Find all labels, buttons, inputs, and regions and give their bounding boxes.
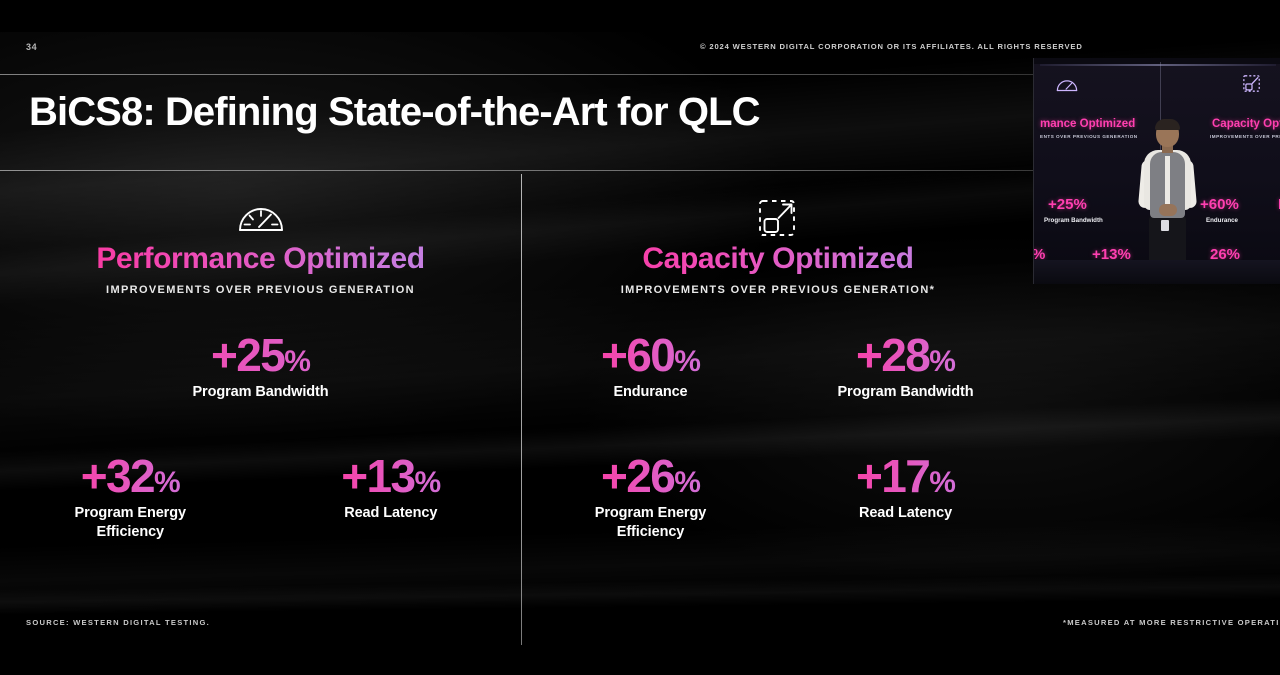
stat-label: Endurance <box>523 383 778 402</box>
stat-value: +28% <box>778 332 1033 379</box>
presenter-figure <box>1132 120 1202 280</box>
pip-subheading-left: ENTS OVER PREVIOUS GENERATION <box>1040 134 1138 139</box>
column-subheading: IMPROVEMENTS OVER PREVIOUS GENERATION* <box>523 284 1033 296</box>
pip-stat-value: +60% <box>1200 196 1239 213</box>
stats-row: +26% Program EnergyEfficiency +17% Read … <box>523 453 1033 541</box>
stat-label: Read Latency <box>778 504 1033 523</box>
column-heading: Performance Optimized <box>0 242 521 276</box>
speedometer-icon <box>231 194 291 242</box>
stats-row: +25% Program Bandwidth <box>0 332 521 401</box>
stat-item: +60% Endurance <box>523 332 778 401</box>
column-subheading: IMPROVEMENTS OVER PREVIOUS GENERATION <box>0 284 521 296</box>
copyright-notice: © 2024 WESTERN DIGITAL CORPORATION OR IT… <box>700 42 1083 51</box>
stat-value: +17% <box>778 453 1033 500</box>
stat-label: Program Bandwidth <box>0 383 521 402</box>
page-title: BiCS8: Defining State-of-the-Art for QLC <box>29 90 760 135</box>
stat-label: Program Bandwidth <box>778 383 1033 402</box>
expand-square-icon <box>748 194 808 242</box>
stat-value: +25% <box>0 332 521 379</box>
column-capacity-optimized: Capacity Optimized IMPROVEMENTS OVER PRE… <box>523 172 1033 645</box>
pip-stage: mance Optimized ENTS OVER PREVIOUS GENER… <box>1034 58 1280 284</box>
stat-value: +60% <box>523 332 778 379</box>
letterbox-bottom <box>0 645 1280 675</box>
stat-value: +26% <box>523 453 778 500</box>
stat-value: +32% <box>0 453 261 500</box>
pip-stat-label: Endurance <box>1206 217 1238 224</box>
column-performance-optimized: Performance Optimized IMPROVEMENTS OVER … <box>0 172 521 645</box>
pip-stat-label: Program Bandwidth <box>1044 217 1103 224</box>
column-heading: Capacity Optimized <box>523 242 1033 276</box>
stat-item: +17% Read Latency <box>778 453 1033 541</box>
letterbox-top <box>0 0 1280 32</box>
footnote-measurement: *MEASURED AT MORE RESTRICTIVE OPERATING … <box>1063 618 1280 627</box>
pip-stat-value: +25% <box>1048 196 1087 213</box>
stat-label: Program EnergyEfficiency <box>523 504 778 541</box>
pip-stage-floor <box>1034 260 1280 284</box>
pip-subheading-right: IMPROVEMENTS OVER PREVIO <box>1210 134 1280 139</box>
stat-item: +28% Program Bandwidth <box>778 332 1033 401</box>
screen: 34 © 2024 WESTERN DIGITAL CORPORATION OR… <box>0 0 1280 675</box>
stat-value: +13% <box>261 453 522 500</box>
stat-item: +32% Program EnergyEfficiency <box>0 453 261 541</box>
stat-item: +26% Program EnergyEfficiency <box>523 453 778 541</box>
pip-screen-glow <box>1040 64 1276 66</box>
footnote-source: SOURCE: WESTERN DIGITAL TESTING. <box>26 618 210 627</box>
stat-label: Program EnergyEfficiency <box>0 504 261 541</box>
stats-row: +60% Endurance +28% Program Bandwidth <box>523 332 1033 401</box>
expand-square-icon <box>1242 74 1262 98</box>
stat-item: +25% Program Bandwidth <box>0 332 521 401</box>
stats-row: +32% Program EnergyEfficiency +13% Read … <box>0 453 521 541</box>
speedometer-icon <box>1056 76 1078 99</box>
page-number: 34 <box>26 42 37 52</box>
stat-label: Read Latency <box>261 504 522 523</box>
stat-item: +13% Read Latency <box>261 453 522 541</box>
presenter-video-overlay[interactable]: mance Optimized ENTS OVER PREVIOUS GENER… <box>1033 58 1280 284</box>
stats-grid: +25% Program Bandwidth +32% Program Ener… <box>0 332 521 541</box>
stats-grid: +60% Endurance +28% Program Bandwidth +2… <box>523 332 1033 541</box>
pip-heading-left: mance Optimized <box>1040 118 1135 130</box>
pip-heading-right: Capacity Opt <box>1212 118 1280 130</box>
column-divider <box>521 174 522 645</box>
